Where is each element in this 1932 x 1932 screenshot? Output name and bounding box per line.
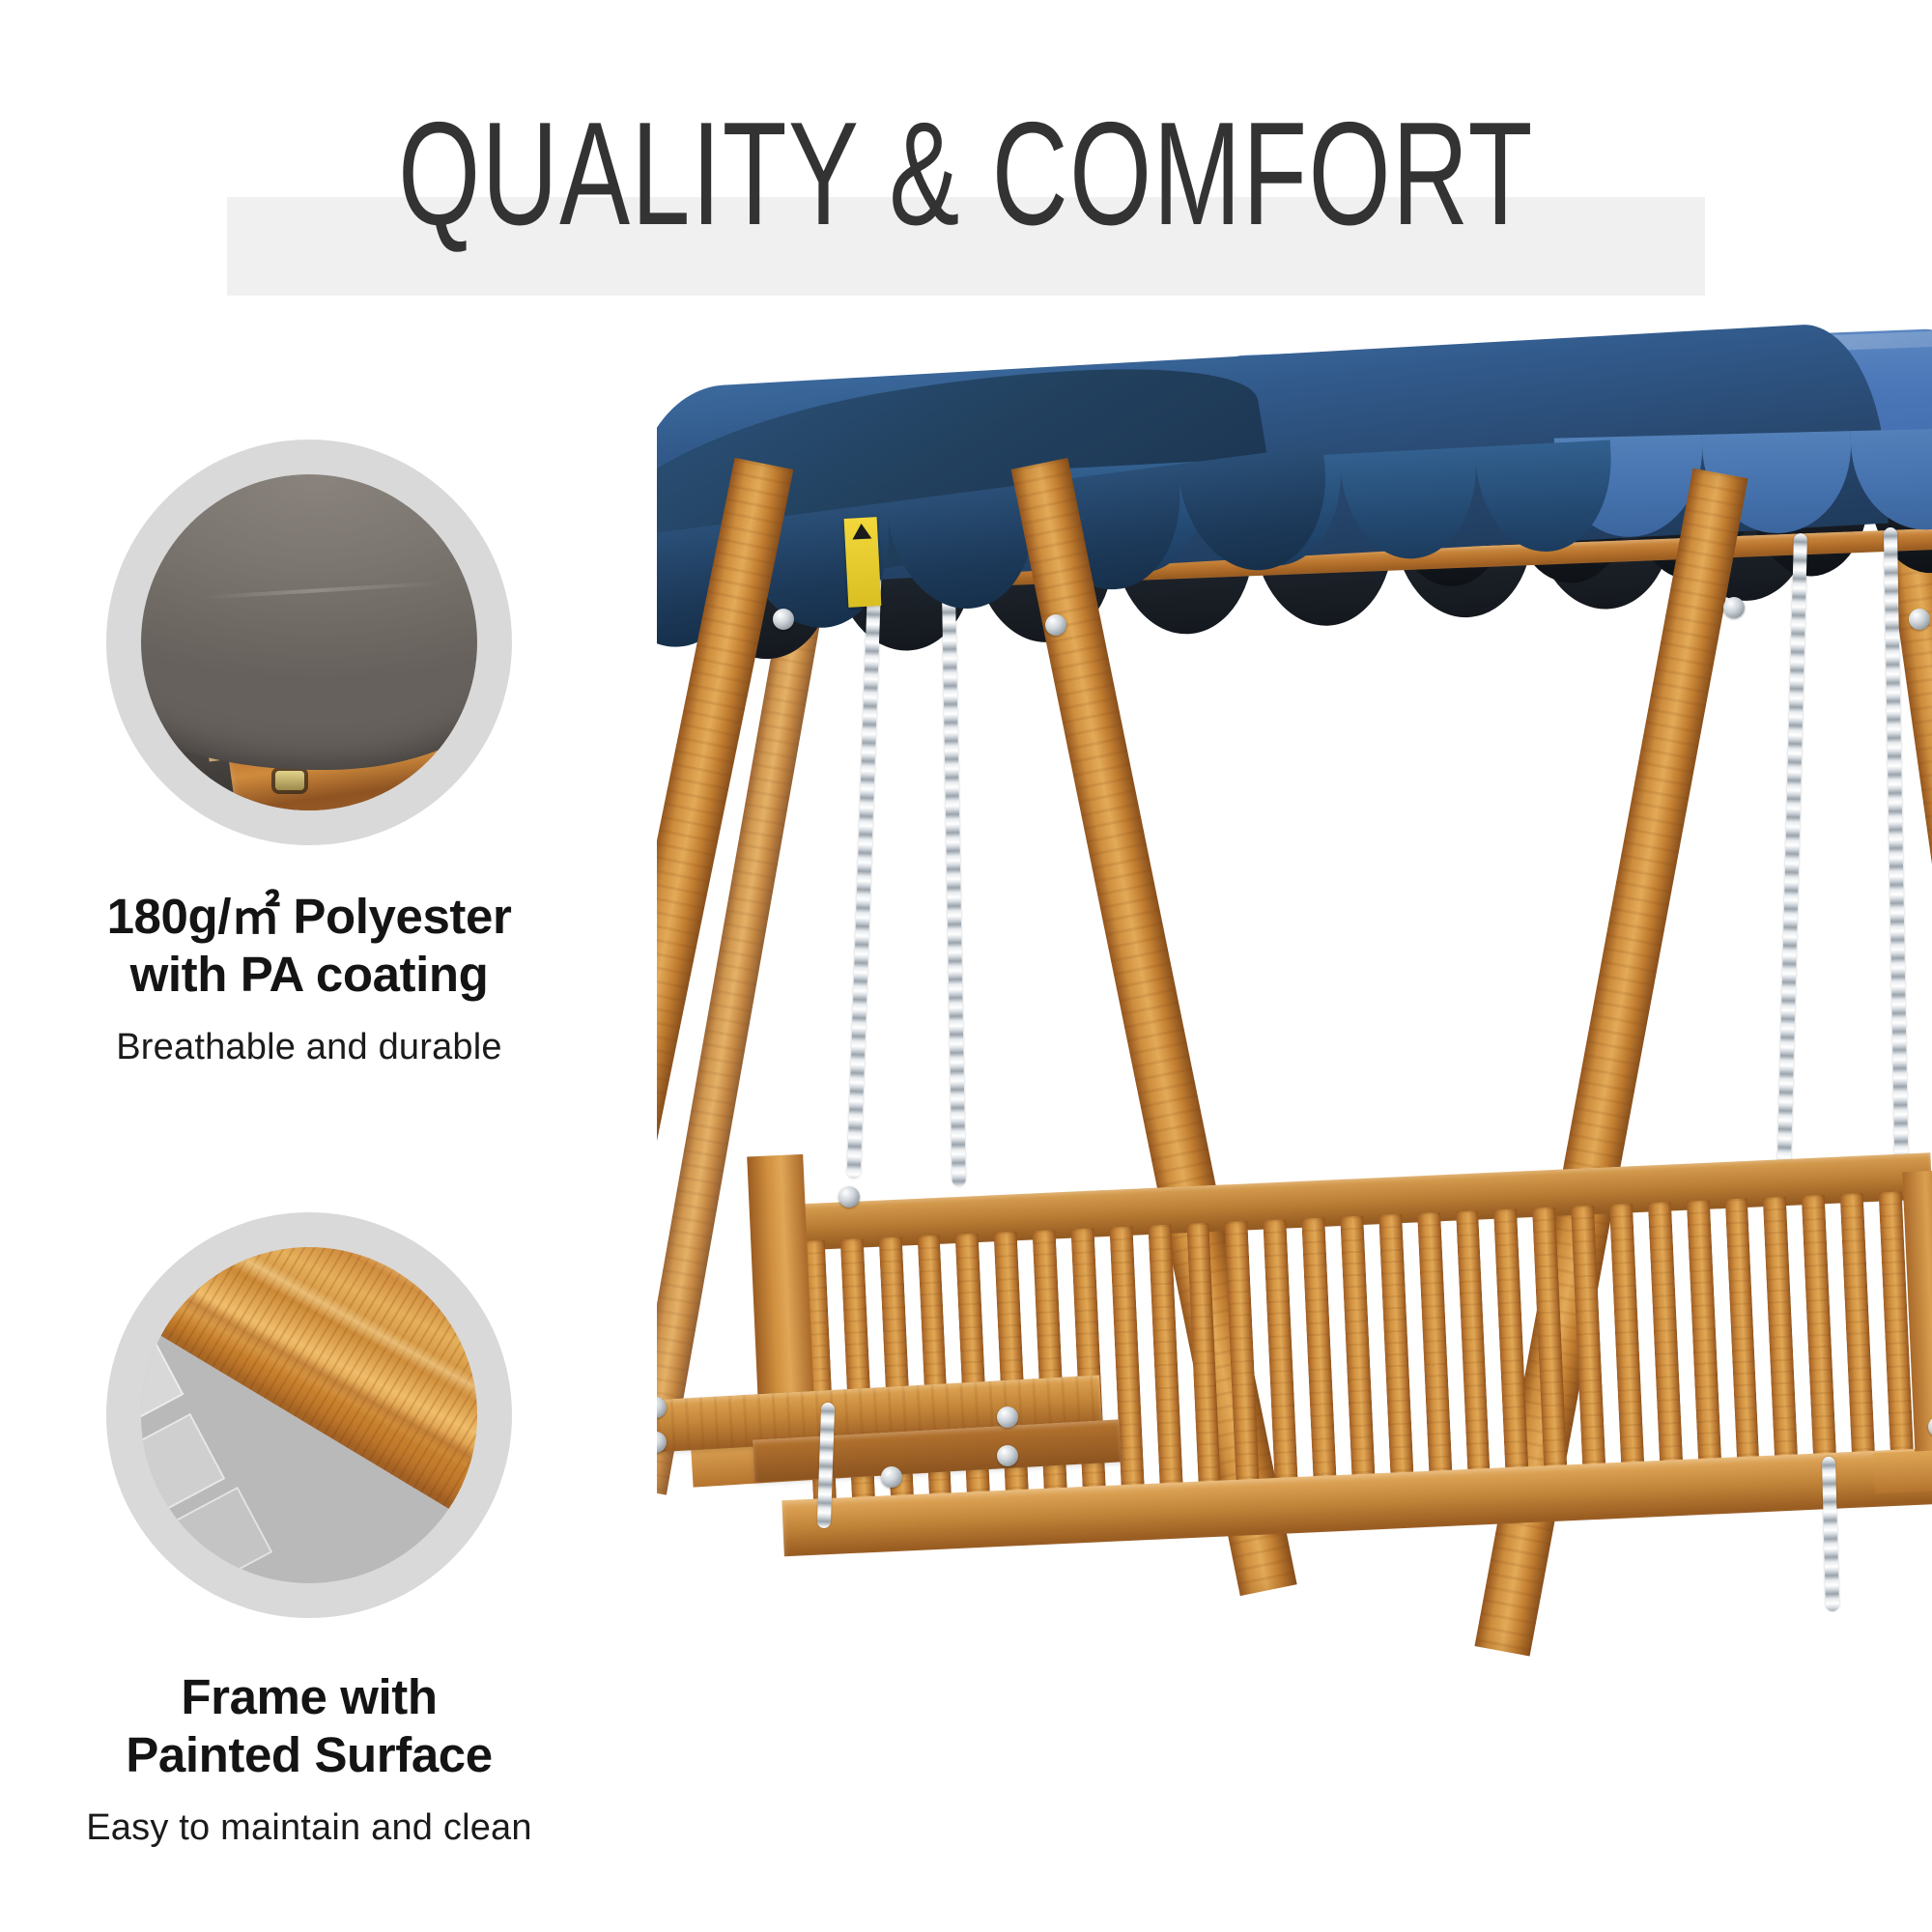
polyester-fabric-surface [141, 474, 477, 770]
product-photo-porch-swing [657, 319, 1932, 1884]
feature-heading-line-2: Painted Surface [19, 1726, 599, 1784]
feature-subtitle: Breathable and durable [19, 1025, 599, 1069]
metal-bolt [838, 1186, 860, 1207]
fabric-scene [141, 474, 477, 810]
metal-bolt [275, 771, 304, 790]
photo-clip [141, 1247, 477, 1583]
wood-scene [141, 1247, 477, 1583]
bench-armrest-right-top [1873, 1445, 1932, 1494]
warning-triangle-icon [852, 523, 872, 539]
canopy-fabric-closeup-photo [106, 440, 512, 845]
metal-bolt [1045, 614, 1066, 636]
feature-block-polyester: 180g/㎡ Polyester with PA coating Breatha… [0, 440, 618, 1069]
feature-heading-line-2: with PA coating [19, 946, 599, 1004]
metal-bolt [997, 1406, 1018, 1428]
feature-heading-line-1: 180g/㎡ Polyester [19, 888, 599, 946]
infographic-canvas: QUALITY & COMFORT 180g/㎡ Polyester with [0, 0, 1932, 1932]
metal-bolt [1723, 597, 1745, 618]
page-title: QUALITY & COMFORT [270, 100, 1662, 255]
feature-heading: 180g/㎡ Polyester with PA coating [19, 888, 599, 1004]
photo-clip [141, 474, 477, 810]
metal-bolt [997, 1445, 1018, 1466]
feature-subtitle: Easy to maintain and clean [19, 1805, 599, 1850]
metal-bolt [773, 609, 794, 630]
feature-heading-line-1: Frame with [19, 1668, 599, 1726]
metal-bolt [881, 1466, 902, 1488]
swing-bench [753, 1169, 1932, 1575]
suspension-chain [1776, 533, 1807, 1200]
feature-block-painted-frame: Frame with Painted Surface Easy to maint… [0, 1212, 618, 1850]
metal-bolt [1909, 609, 1930, 630]
feature-heading: Frame with Painted Surface [19, 1668, 599, 1784]
wood-frame-closeup-photo [106, 1212, 512, 1618]
